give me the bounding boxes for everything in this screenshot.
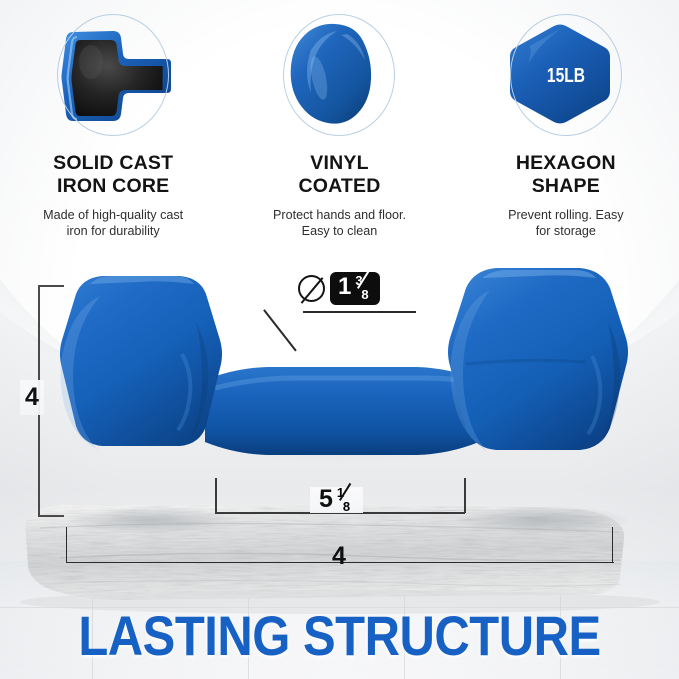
overall-width-cap-left [66, 527, 67, 563]
icon-ring [510, 14, 622, 136]
feature-title: HEXAGON SHAPE [516, 152, 616, 198]
hexagon-shape-icon: 15LB [501, 12, 631, 138]
feature-title-line2: IRON CORE [53, 175, 173, 198]
fraction-denominator: 8 [343, 499, 350, 514]
feature-solid-cast-iron-core: SOLID CAST IRON CORE Made of high-qualit… [0, 0, 226, 250]
headline-text: LASTING STRUCTURE [78, 605, 600, 669]
handle-length-fraction: 18 [334, 487, 354, 513]
vinyl-coated-blob-icon [274, 12, 404, 138]
feature-description: Made of high-quality cast iron for durab… [43, 207, 183, 240]
feature-title-line2: SHAPE [516, 175, 616, 198]
fraction-denominator: 8 [361, 287, 368, 302]
diameter-fraction: 38 [352, 275, 372, 301]
feature-title-line1: VINYL [298, 152, 380, 175]
height-dimension-cap-bottom [38, 515, 64, 517]
feature-title: VINYL COATED [298, 152, 380, 198]
feature-row: SOLID CAST IRON CORE Made of high-qualit… [0, 0, 679, 250]
handle-length-cap-left [215, 478, 217, 513]
height-dimension-cap-top [38, 285, 64, 287]
handle-length-cap-right [464, 478, 466, 513]
feature-desc-line1: Made of high-quality cast [43, 207, 183, 224]
overall-width-cap-right [612, 527, 613, 563]
diameter-value-badge: 138 [330, 272, 380, 305]
diameter-whole: 1 [338, 275, 351, 299]
handle-length-value: 518 [310, 487, 363, 513]
callout-leader-horizontal [303, 311, 416, 313]
feature-vinyl-coated: VINYL COATED Protect hands and floor. Ea… [226, 0, 452, 250]
diameter-label-group: 138 [298, 272, 380, 305]
feature-desc-line1: Prevent rolling. Easy [508, 207, 624, 224]
page-headline: LASTING STRUCTURE [0, 609, 679, 665]
feature-title-line1: HEXAGON [516, 152, 616, 175]
handle-length-whole: 5 [319, 485, 333, 513]
feature-description: Protect hands and floor. Easy to clean [273, 207, 406, 240]
height-dimension-value: 4 [20, 380, 44, 415]
infographic-canvas: SOLID CAST IRON CORE Made of high-qualit… [0, 0, 679, 679]
feature-desc-line1: Protect hands and floor. [273, 207, 406, 224]
feature-description: Prevent rolling. Easy for storage [508, 207, 624, 240]
feature-title-line2: COATED [298, 175, 380, 198]
overall-width-value: 4 [320, 544, 358, 569]
icon-ring [57, 14, 169, 136]
icon-ring [283, 14, 395, 136]
diameter-symbol-icon [298, 275, 325, 302]
feature-title-line1: SOLID CAST [53, 152, 173, 175]
cast-iron-core-cutaway-icon [48, 12, 178, 138]
feature-title: SOLID CAST IRON CORE [53, 152, 173, 198]
feature-hexagon-shape: 15LB HEXAGON SHAPE Prevent rolling. Easy… [453, 0, 679, 250]
